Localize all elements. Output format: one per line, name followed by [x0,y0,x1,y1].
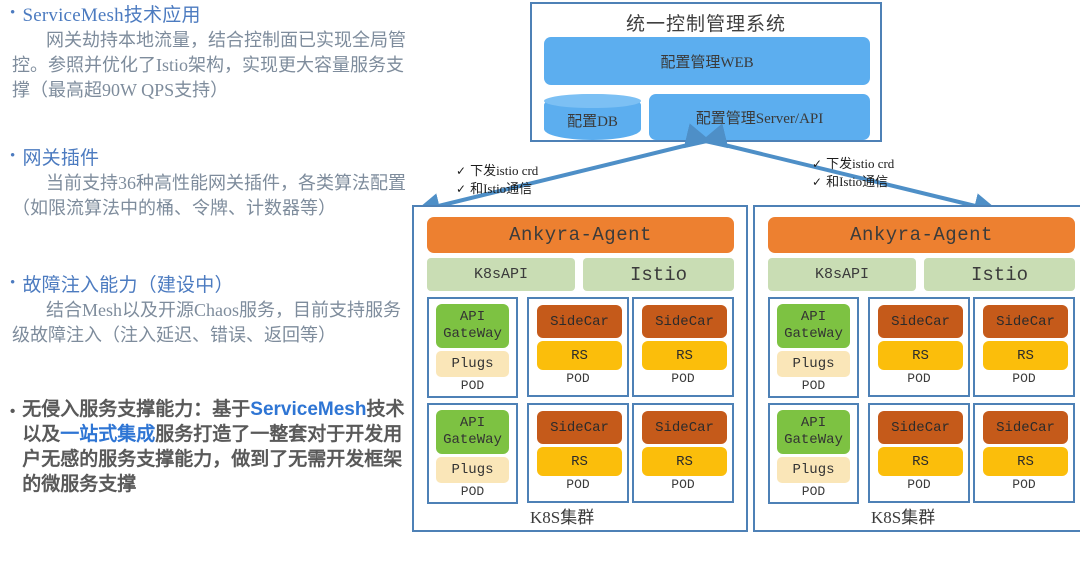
ankyra-agent-bar: Ankyra-Agent [427,217,734,253]
api-gateway-box: API GateWay [436,410,509,454]
bullet-block-2: • 网关插件 当前支持36种高性能网关插件，各类算法配置（如限流算法中的桶、令牌… [10,143,408,221]
bullet-dot-icon: • [10,143,15,164]
api-label: API [801,309,826,326]
bullet-dot-icon: • [10,0,15,21]
final-bullet-part1: 无侵入服务支撑能力：基于 [22,399,250,420]
k8sapi-bar: K8sAPI [768,258,916,291]
rs-box: RS [983,341,1068,370]
slide-text-column: • ServiceMesh技术应用 网关劫持本地流量，结合控制面已实现全局管控。… [0,0,408,574]
sidecar-pod: SideCar RS POD [868,403,970,503]
annotation-left-line2-label: 和Istio通信 [470,181,532,196]
pod-label: POD [975,477,1073,492]
sidecar-pod: SideCar RS POD [527,297,629,397]
api-label: API [460,415,485,432]
sidecar-box: SideCar [878,411,963,444]
istio-bar: Istio [583,258,734,291]
bullet-heading-1: • ServiceMesh技术应用 [10,0,408,27]
sidecar-box: SideCar [642,305,727,338]
bullet-heading-2: • 网关插件 [10,143,408,170]
rs-box: RS [983,447,1068,476]
k8s-cluster-right: Ankyra-Agent K8sAPI Istio API GateWay Pl… [753,205,1080,532]
check-icon: ✓ [812,157,822,171]
bullet-heading-3: • 故障注入能力（建设中） [10,270,408,297]
ankyra-agent-bar: Ankyra-Agent [768,217,1075,253]
api-gateway-box: API GateWay [436,304,509,348]
check-icon: ✓ [456,182,466,196]
annotation-left-line1: ✓下发istio crd [456,162,538,180]
bullet-block-1: • ServiceMesh技术应用 网关劫持本地流量，结合控制面已实现全局管控。… [10,0,408,103]
control-system-box: 统一控制管理系统 配置管理WEB 配置DB 配置管理Server/API [530,2,882,142]
rs-box: RS [537,341,622,370]
gateway-pod: API GateWay Plugs POD [768,403,859,504]
annotation-right-line1-label: 下发istio crd [826,156,894,171]
sidecar-pod: SideCar RS POD [632,297,734,397]
gateway-label: GateWay [443,326,502,343]
api-gateway-box: API GateWay [777,410,850,454]
rs-box: RS [878,447,963,476]
pod-label: POD [429,484,516,499]
check-icon: ✓ [812,175,822,189]
annotation-right-line1: ✓下发istio crd [812,155,894,173]
bullet-body-3: 结合Mesh以及开源Chaos服务，目前支持服务级故障注入（注入延迟、错误、返回… [10,298,408,348]
annotation-right-line2: ✓和Istio通信 [812,173,894,191]
gateway-pod: API GateWay Plugs POD [427,297,518,398]
rs-box: RS [537,447,622,476]
final-bullet-highlight1: ServiceMesh [250,399,366,420]
k8sapi-bar: K8sAPI [427,258,575,291]
control-system-title: 统一控制管理系统 [532,4,880,36]
annotation-right: ✓下发istio crd ✓和Istio通信 [812,155,894,191]
gateway-pod: API GateWay Plugs POD [427,403,518,504]
cluster-label: K8S集群 [530,503,594,528]
cluster-label: K8S集群 [871,503,935,528]
bullet-body-1: 网关劫持本地流量，结合控制面已实现全局管控。参照并优化了Istio架构，实现更大… [10,28,408,103]
sidecar-box: SideCar [537,305,622,338]
annotation-left-line2: ✓和Istio通信 [456,180,538,198]
pod-label: POD [770,378,857,393]
final-bullet-text: 无侵入服务支撑能力：基于ServiceMesh技术以及一站式集成服务打造了一整套… [22,397,406,497]
istio-bar: Istio [924,258,1075,291]
sidecar-pod: SideCar RS POD [973,297,1075,397]
pod-label: POD [770,484,857,499]
gateway-label: GateWay [443,432,502,449]
config-db-cylinder: 配置DB [544,94,641,140]
config-web-box: 配置管理WEB [544,37,870,85]
bullet-block-4: • 无侵入服务支撑能力：基于ServiceMesh技术以及一站式集成服务打造了一… [10,397,406,497]
pod-label: POD [870,371,968,386]
sidecar-box: SideCar [537,411,622,444]
annotation-right-line2-label: 和Istio通信 [826,174,888,189]
rs-box: RS [642,447,727,476]
plugs-box: Plugs [436,457,509,483]
bullet-dot-icon: • [10,270,15,291]
final-bullet: • 无侵入服务支撑能力：基于ServiceMesh技术以及一站式集成服务打造了一… [10,397,406,497]
plugs-box: Plugs [777,351,850,377]
k8s-cluster-left: Ankyra-Agent K8sAPI Istio API GateWay Pl… [412,205,748,532]
pod-label: POD [634,477,732,492]
bullet-heading-3-label: 故障注入能力（建设中） [22,270,233,297]
plugs-box: Plugs [777,457,850,483]
sidecar-pod: SideCar RS POD [868,297,970,397]
api-label: API [460,309,485,326]
plugs-box: Plugs [436,351,509,377]
pod-label: POD [429,378,516,393]
pod-label: POD [975,371,1073,386]
gateway-label: GateWay [784,326,843,343]
bullet-dot-icon: • [10,397,15,419]
rs-box: RS [878,341,963,370]
bullet-heading-2-label: 网关插件 [22,143,99,170]
sidecar-pod: SideCar RS POD [973,403,1075,503]
bullet-block-3: • 故障注入能力（建设中） 结合Mesh以及开源Chaos服务，目前支持服务级故… [10,270,408,348]
annotation-left-line1-label: 下发istio crd [470,163,538,178]
final-bullet-highlight2: 一站式集成 [60,424,155,445]
pod-label: POD [529,477,627,492]
sidecar-box: SideCar [642,411,727,444]
sidecar-pod: SideCar RS POD [527,403,629,503]
api-label: API [801,415,826,432]
bullet-heading-1-label: ServiceMesh技术应用 [22,0,200,27]
config-server-api-box: 配置管理Server/API [649,94,870,140]
pod-label: POD [634,371,732,386]
gateway-label: GateWay [784,432,843,449]
bullet-body-2: 当前支持36种高性能网关插件，各类算法配置（如限流算法中的桶、令牌、计数器等） [10,171,408,221]
rs-box: RS [642,341,727,370]
architecture-diagram: 统一控制管理系统 配置管理WEB 配置DB 配置管理Server/API ✓下发… [408,0,1080,574]
sidecar-pod: SideCar RS POD [632,403,734,503]
sidecar-box: SideCar [878,305,963,338]
pod-label: POD [870,477,968,492]
gateway-pod: API GateWay Plugs POD [768,297,859,398]
sidecar-box: SideCar [983,305,1068,338]
annotation-left: ✓下发istio crd ✓和Istio通信 [456,162,538,198]
pod-label: POD [529,371,627,386]
config-db-label: 配置DB [567,104,618,131]
sidecar-box: SideCar [983,411,1068,444]
check-icon: ✓ [456,164,466,178]
api-gateway-box: API GateWay [777,304,850,348]
